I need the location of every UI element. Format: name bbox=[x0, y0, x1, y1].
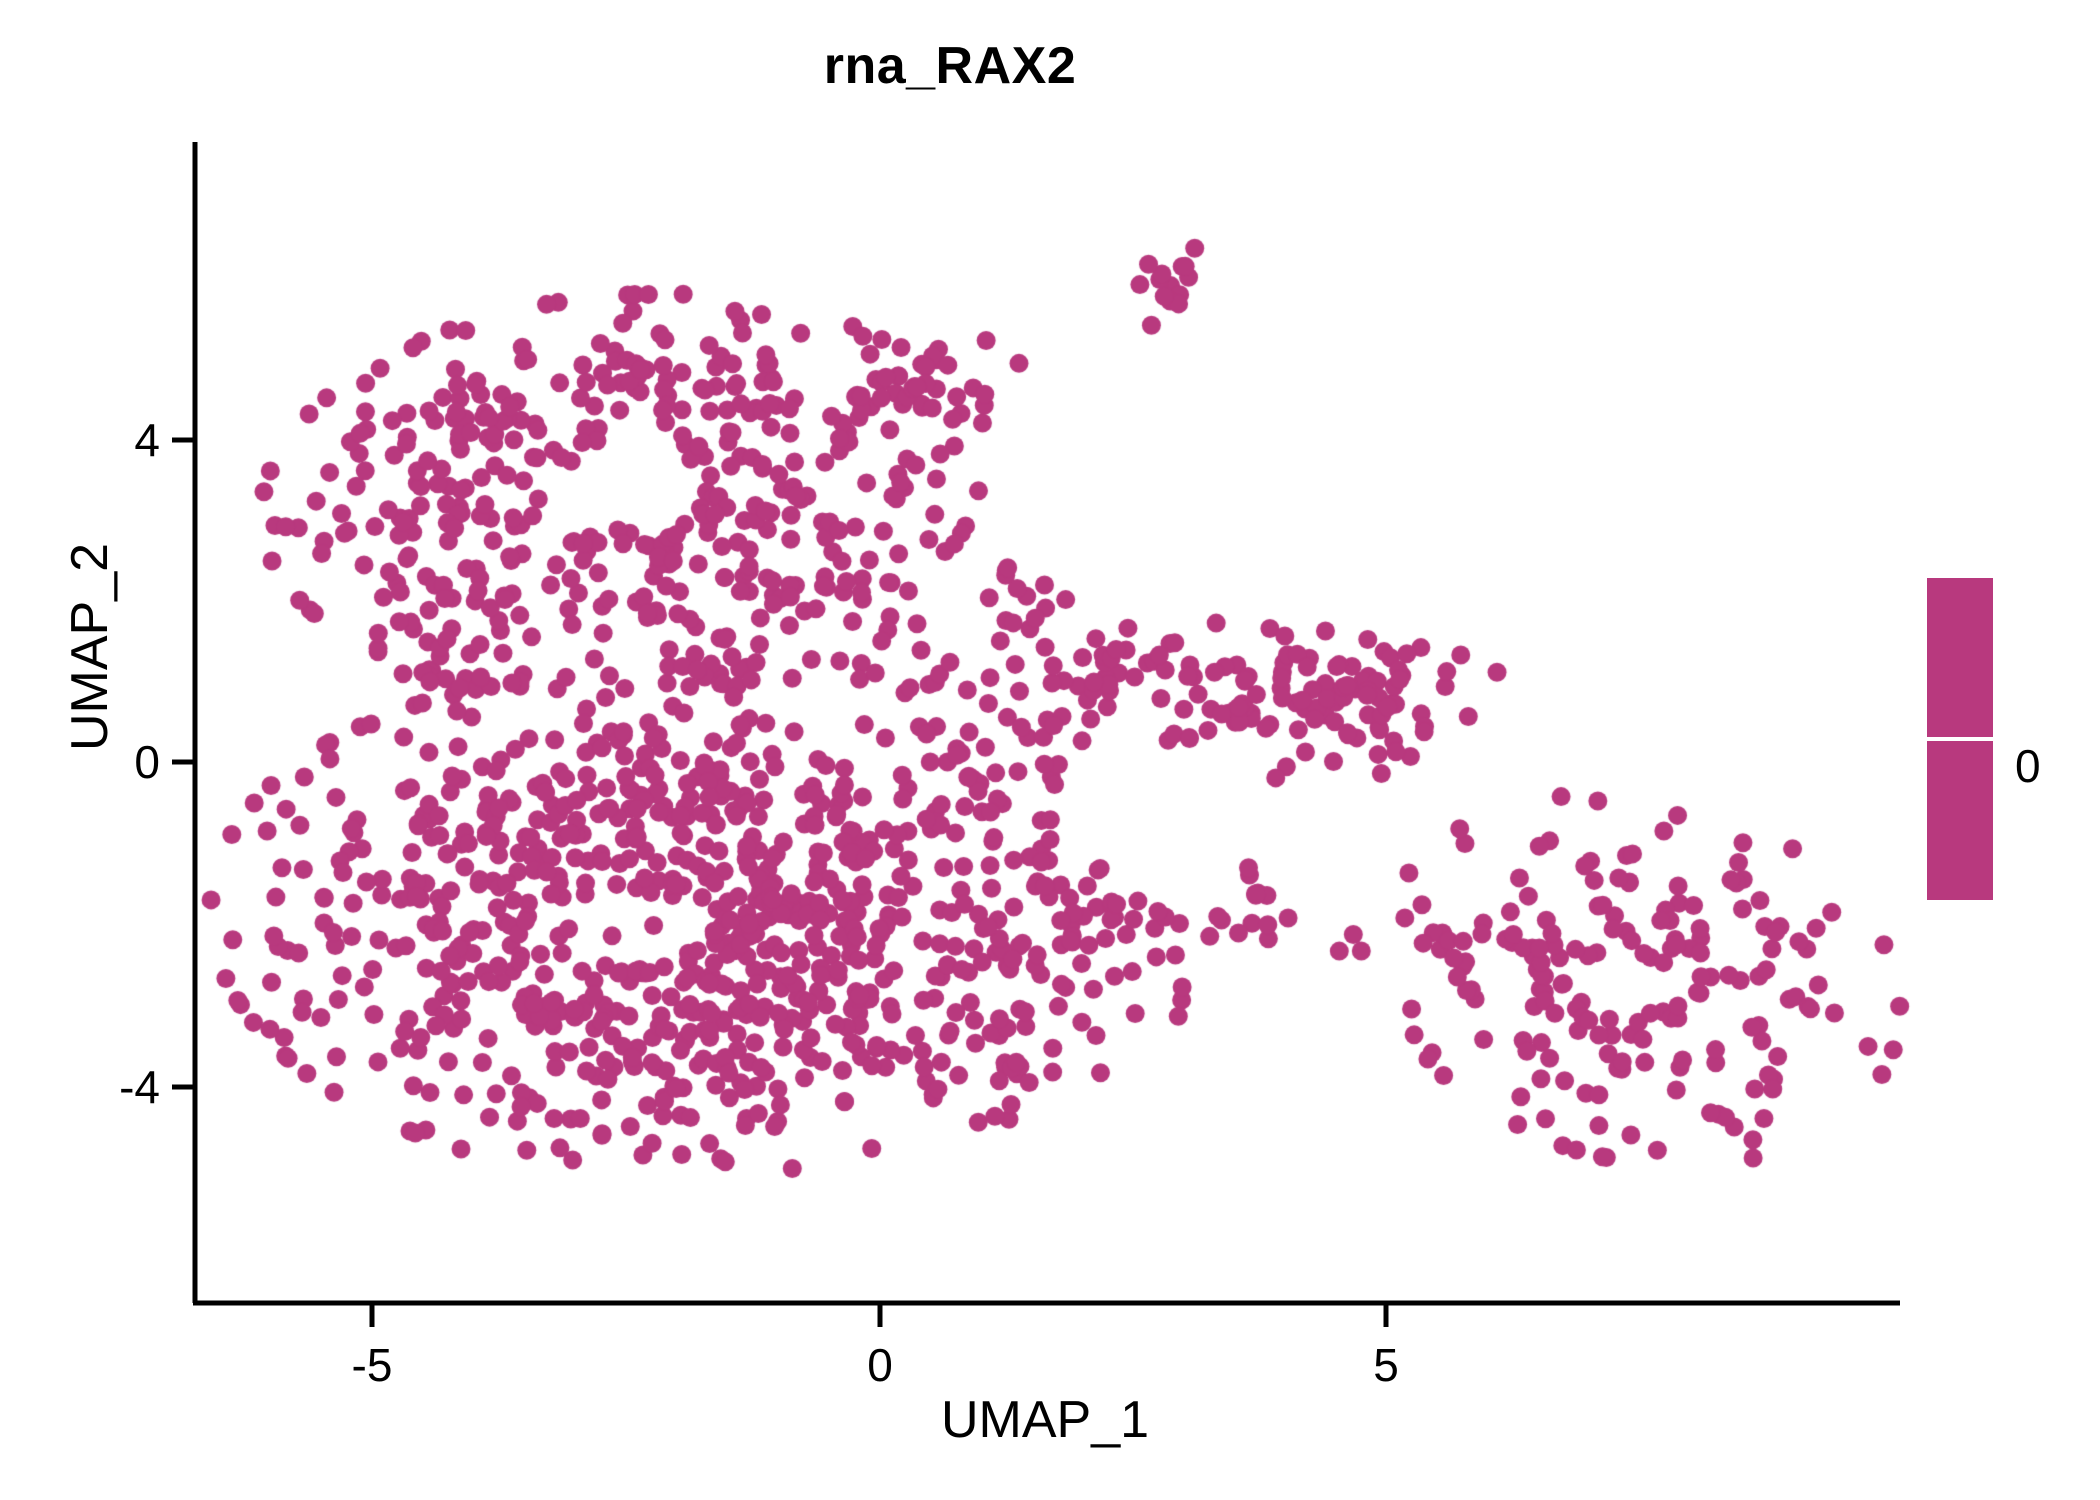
x-tick-label-neg5: -5 bbox=[352, 1338, 393, 1392]
x-tick-label-5: 5 bbox=[1373, 1338, 1399, 1392]
axes-lines bbox=[0, 0, 2100, 1500]
x-axis-title: UMAP_1 bbox=[195, 1390, 1895, 1450]
colorbar-legend[interactable] bbox=[1927, 578, 1993, 900]
umap-feature-plot: rna_RAX2 4 0 -4 -5 0 5 UMAP_1 UMAP_2 0 bbox=[0, 0, 2100, 1500]
x-tick-label-0: 0 bbox=[867, 1338, 893, 1392]
y-tick-label-neg4: -4 bbox=[40, 1060, 160, 1114]
y-axis-title: UMAP_2 bbox=[60, 327, 120, 967]
colorbar-tick-gap bbox=[1949, 737, 1971, 741]
colorbar-tick-label-0: 0 bbox=[2015, 739, 2041, 793]
